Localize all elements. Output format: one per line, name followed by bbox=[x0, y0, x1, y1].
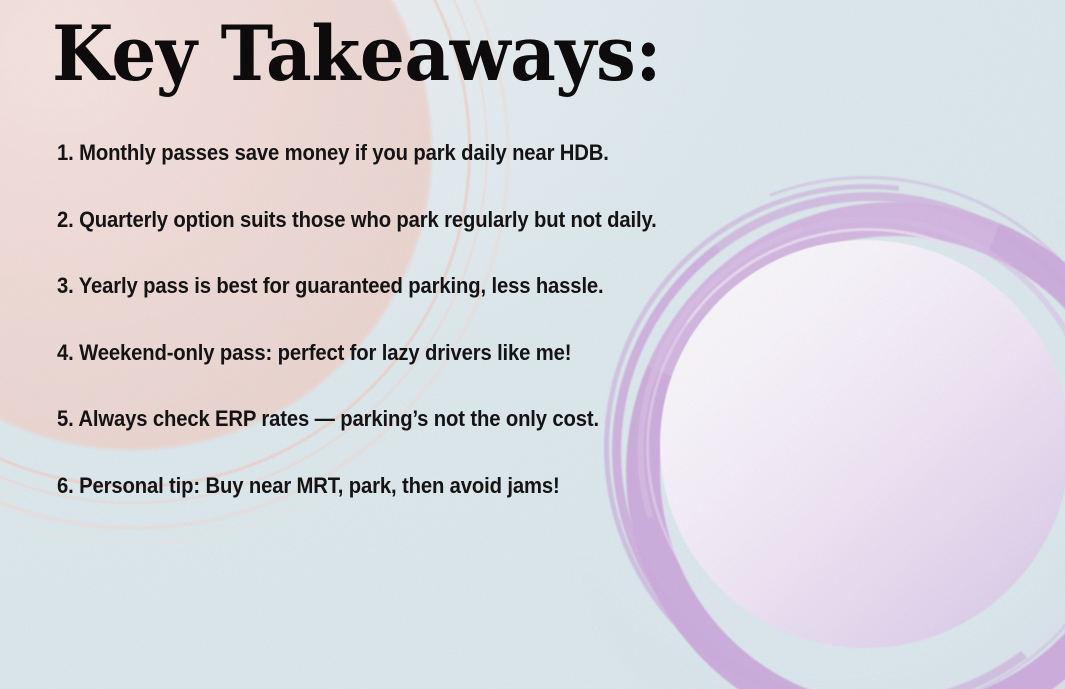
poster-canvas: Key Takeaways: 1. Monthly passes save mo… bbox=[0, 0, 1065, 689]
list-item: 2. Quarterly option suits those who park… bbox=[57, 209, 928, 232]
list-item: 4. Weekend-only pass: perfect for lazy d… bbox=[57, 342, 928, 365]
takeaways-list: 1. Monthly passes save money if you park… bbox=[57, 142, 1025, 497]
list-item: 1. Monthly passes save money if you park… bbox=[57, 142, 928, 165]
content-layer: Key Takeaways: 1. Monthly passes save mo… bbox=[0, 0, 1065, 689]
list-item: 5. Always check ERP rates — parking’s no… bbox=[57, 408, 928, 431]
page-title: Key Takeaways: bbox=[52, 16, 661, 92]
list-item: 6. Personal tip: Buy near MRT, park, the… bbox=[57, 475, 928, 498]
list-item: 3. Yearly pass is best for guaranteed pa… bbox=[57, 275, 928, 298]
